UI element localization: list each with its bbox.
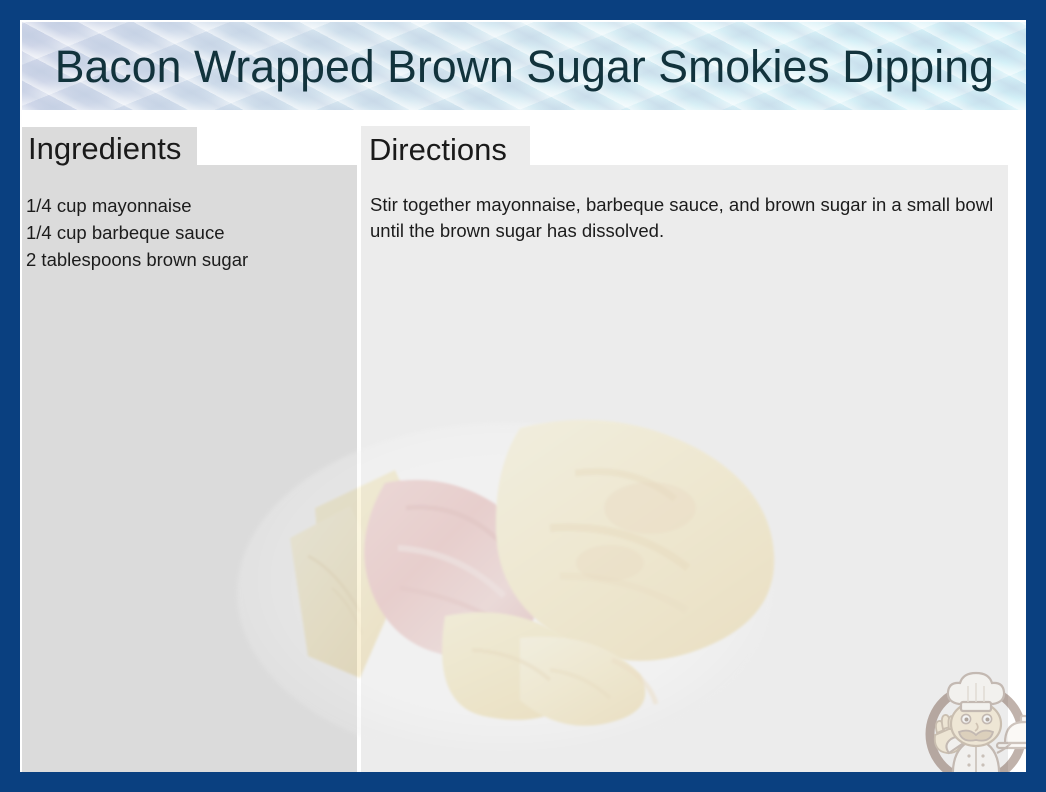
ingredient-item: 1/4 cup mayonnaise (26, 192, 346, 219)
ingredients-list: 1/4 cup mayonnaise 1/4 cup barbeque sauc… (26, 192, 346, 274)
directions-heading: Directions (369, 134, 507, 165)
directions-body-text: Stir together mayonnaise, barbeque sauce… (370, 192, 995, 245)
ingredient-item: 1/4 cup barbeque sauce (26, 219, 346, 246)
title-banner: Bacon Wrapped Brown Sugar Smokies Dippin… (22, 22, 1026, 110)
directions-panel (361, 165, 1008, 772)
page-title: Bacon Wrapped Brown Sugar Smokies Dippin… (54, 44, 993, 89)
recipe-slide: Bacon Wrapped Brown Sugar Smokies Dippin… (0, 0, 1046, 792)
ingredients-heading: Ingredients (28, 133, 181, 164)
chef-logo-icon (913, 661, 1039, 787)
ingredient-item: 2 tablespoons brown sugar (26, 246, 346, 273)
